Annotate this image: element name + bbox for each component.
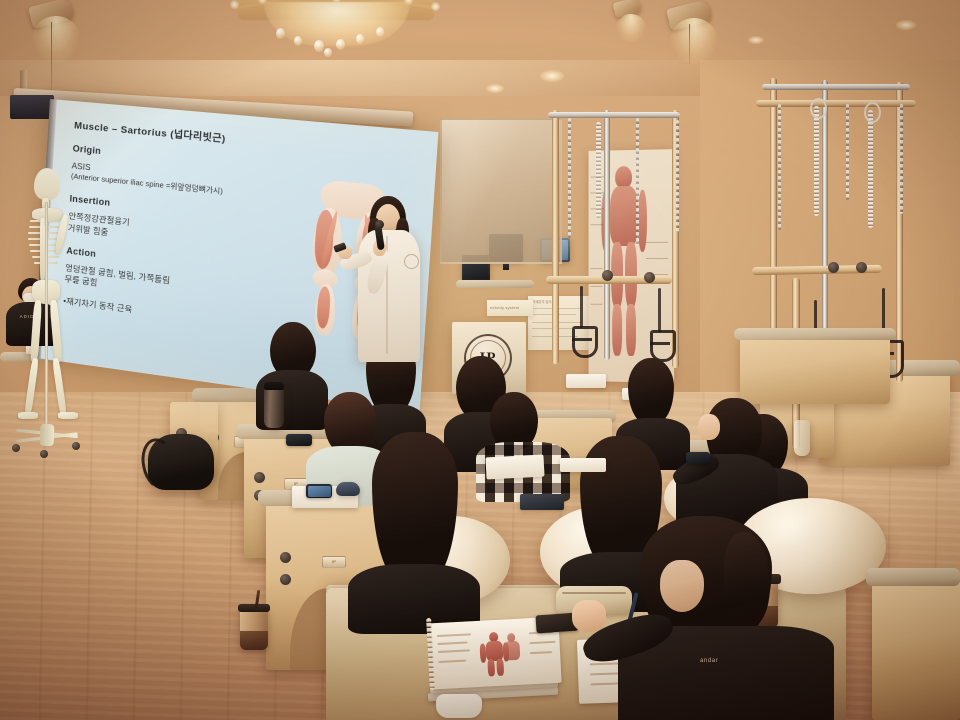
anatomical-skeleton-model [10, 168, 102, 468]
exbody-sign-text: exbody system [490, 305, 519, 310]
student-plaid [476, 392, 572, 502]
black-backpack [148, 434, 214, 490]
spring-loop [810, 98, 827, 119]
skeleton-left-foot [18, 412, 38, 419]
textbook-text-line [438, 660, 466, 663]
textbook-text-line [530, 651, 552, 654]
can-light [748, 36, 764, 44]
textbook-anatomy-figure [477, 631, 523, 677]
chandelier-crystal [324, 48, 332, 57]
skeleton-stand-pole [45, 202, 48, 434]
can-light [486, 84, 504, 93]
smartphone [686, 452, 710, 464]
student-hair [372, 432, 458, 582]
tower-crossbar [548, 112, 680, 118]
tower-knob [856, 262, 867, 273]
student-writing-hand [572, 600, 606, 632]
can-light [540, 70, 564, 82]
box-knob [254, 472, 265, 483]
tumbler-lid [264, 382, 284, 390]
skeleton-right-foot [58, 412, 78, 419]
tower-chain [846, 104, 849, 200]
tower-chain [676, 120, 679, 232]
equipment-plate: IP [322, 556, 346, 568]
chandelier-crystal [314, 40, 324, 52]
tower-chain [636, 118, 639, 246]
tower-knob [644, 272, 655, 283]
cup-body [240, 608, 268, 650]
spotlight-wire [51, 22, 52, 100]
textbook-text-line [437, 641, 467, 644]
can-light [896, 20, 916, 30]
skeleton-skull [34, 168, 60, 200]
skeleton-stand-hub [40, 424, 55, 446]
water-bottle [794, 420, 810, 456]
handle-strap [580, 286, 583, 328]
tower-crossbar [762, 84, 910, 90]
student-brand-text: andar [700, 658, 734, 668]
tower-chain [568, 118, 571, 238]
tower-chain [778, 104, 781, 230]
face-mask [436, 694, 482, 718]
chandelier-bulb [431, 2, 440, 11]
classroom-photo-scene: Muscle – Sartorius (넙다리빗근) Origin ASIS (… [0, 0, 960, 720]
textbook-text-line [438, 649, 470, 652]
cup-liquid [240, 631, 268, 650]
chandelier-bulb [230, 0, 239, 9]
exbody-sign: exbody system [487, 300, 533, 316]
chandelier-crystal [276, 28, 285, 39]
spotlight-glow [670, 18, 718, 64]
chandelier-crystal [376, 27, 384, 37]
tower-chain [900, 104, 903, 214]
spotlight-glow [32, 16, 80, 62]
stand-caster [12, 444, 20, 452]
stand-caster [72, 442, 80, 450]
spring-loop [864, 102, 881, 123]
spotlight-wire [689, 24, 690, 64]
iced-coffee-cup-floor [238, 594, 272, 650]
projector-screen-case [10, 95, 54, 119]
stand-caster [40, 450, 48, 458]
smartphone [286, 434, 312, 446]
phone-screen [308, 486, 331, 497]
pencil-case [336, 482, 360, 496]
spotlight-glow [616, 14, 646, 42]
textbook-text-line [437, 633, 471, 636]
tower-knob [602, 270, 613, 281]
textbook-text-line [529, 641, 555, 644]
student-foreground-writing: andar [616, 516, 846, 720]
student-hair [628, 358, 674, 424]
chandelier-crystal [356, 34, 364, 44]
figure-leg [487, 659, 495, 676]
tower-handle [572, 326, 598, 358]
tower-steel-upright [604, 110, 610, 360]
student-hand [698, 414, 720, 440]
tower-spring [814, 106, 819, 216]
skeleton-right-femur [49, 300, 62, 362]
student-face [660, 560, 704, 612]
box-knob [280, 574, 291, 585]
tower-knob [828, 262, 839, 273]
microphone-head [375, 220, 384, 229]
tumbler-bottle [264, 386, 284, 428]
chandelier-crystal [336, 39, 345, 50]
chandelier-crystal [294, 36, 302, 46]
skeleton-right-tibia [52, 358, 67, 416]
tower-spring [868, 110, 873, 228]
figure-torso-2 [504, 641, 520, 661]
tablet [520, 494, 564, 510]
skeleton-left-femur [30, 300, 42, 362]
paper-handout [560, 458, 606, 472]
student-long-hair-center [348, 432, 482, 630]
background-desk-top [456, 280, 534, 288]
tower-spring [596, 122, 601, 218]
box-knob [280, 552, 291, 563]
smartphone [306, 484, 332, 498]
tower-upright [552, 110, 559, 364]
side-table-base [872, 580, 960, 720]
crystal-chandelier [228, 0, 444, 60]
side-table [866, 568, 960, 586]
instructor-lab-coat [358, 230, 420, 362]
tower-base-pad [734, 328, 896, 340]
tower-base-platform [740, 334, 890, 404]
handle-strap [658, 288, 661, 332]
figure-leg [496, 659, 504, 676]
lab-coat-emblem [404, 254, 419, 269]
paper-handout [566, 374, 606, 388]
skeleton-left-tibia [24, 358, 39, 416]
instructor [340, 196, 430, 370]
notebook [485, 454, 544, 479]
